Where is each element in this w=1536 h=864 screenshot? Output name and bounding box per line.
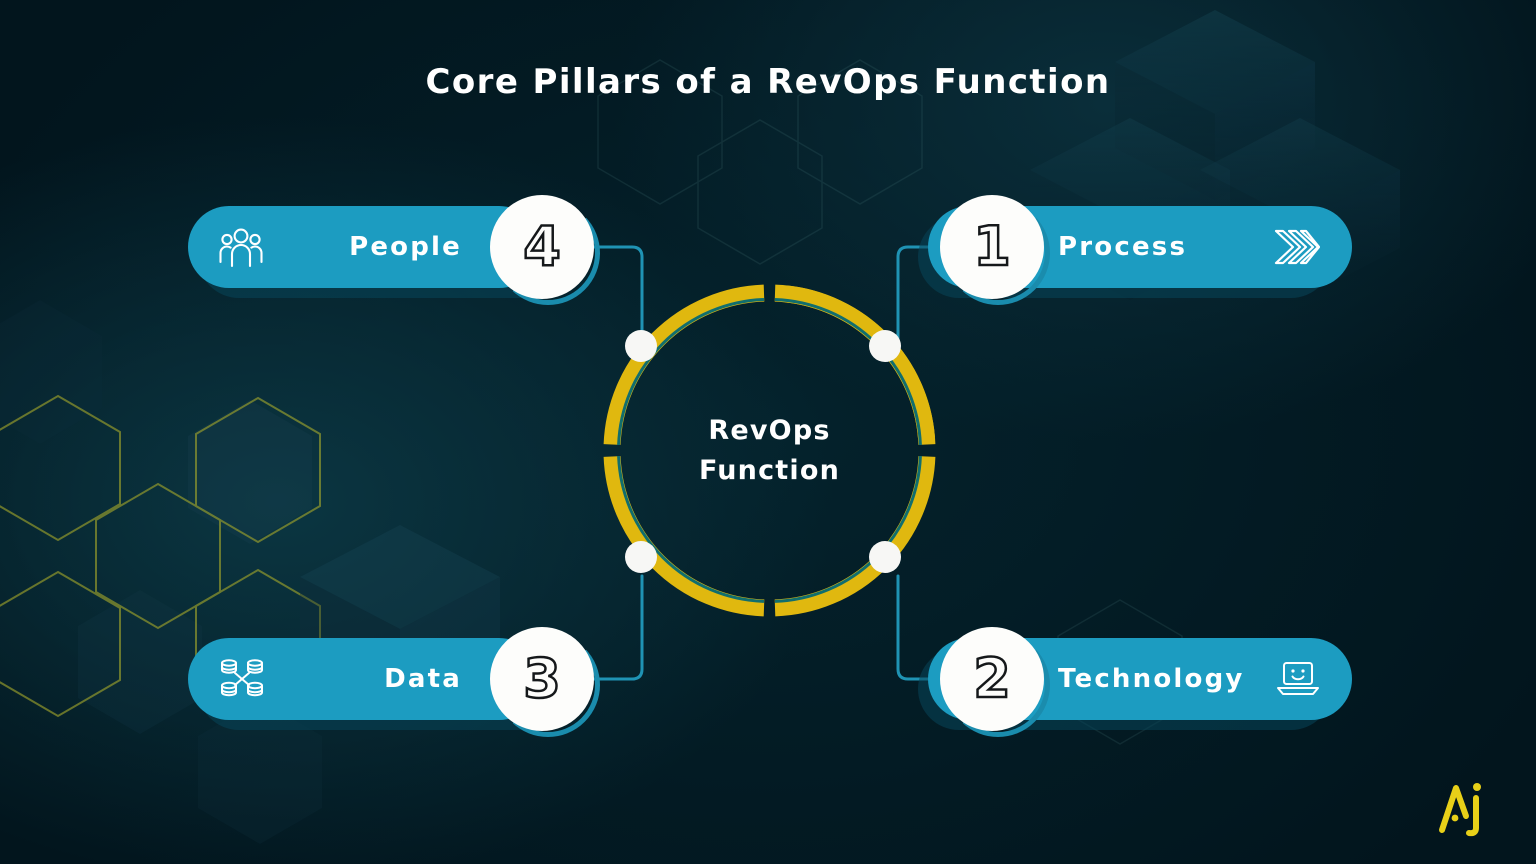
database-network-icon [220,657,264,701]
center-ring: RevOps Function [597,278,942,623]
page-title: Core Pillars of a RevOps Function [0,62,1536,102]
badge-number-people: 4 [523,220,561,274]
ai-logo-icon [1436,778,1492,838]
people-group-icon [218,226,264,268]
double-chevron-right-icon [1272,226,1320,268]
pillar-label-data: Data [384,664,462,694]
pillar-pill-people[interactable]: People [188,206,540,288]
center-label-line1: RevOps [708,411,830,450]
badge-number-process: 1 [973,220,1011,274]
badge-circle-data: 3 [490,627,594,731]
hex-filled-group [0,300,322,844]
pillar-badge-technology[interactable]: 2 [940,627,1044,731]
laptop-smiley-icon [1276,660,1320,698]
center-label-line2: Function [699,451,840,490]
badge-circle-process: 1 [940,195,1044,299]
pillar-pill-data[interactable]: Data [188,638,540,720]
badge-number-technology: 2 [973,652,1011,706]
badge-number-data: 3 [523,652,561,706]
badge-circle-technology: 2 [940,627,1044,731]
pillar-label-people: People [349,232,462,262]
pillar-badge-data[interactable]: 3 [490,627,594,731]
center-label: RevOps Function [597,278,942,623]
pillar-badge-people[interactable]: 4 [490,195,594,299]
pillar-label-process: Process [1058,232,1187,262]
pillar-badge-process[interactable]: 1 [940,195,1044,299]
infographic-canvas: Core Pillars of a RevOps Function [0,0,1536,864]
pillar-label-technology: Technology [1058,664,1245,694]
badge-circle-people: 4 [490,195,594,299]
